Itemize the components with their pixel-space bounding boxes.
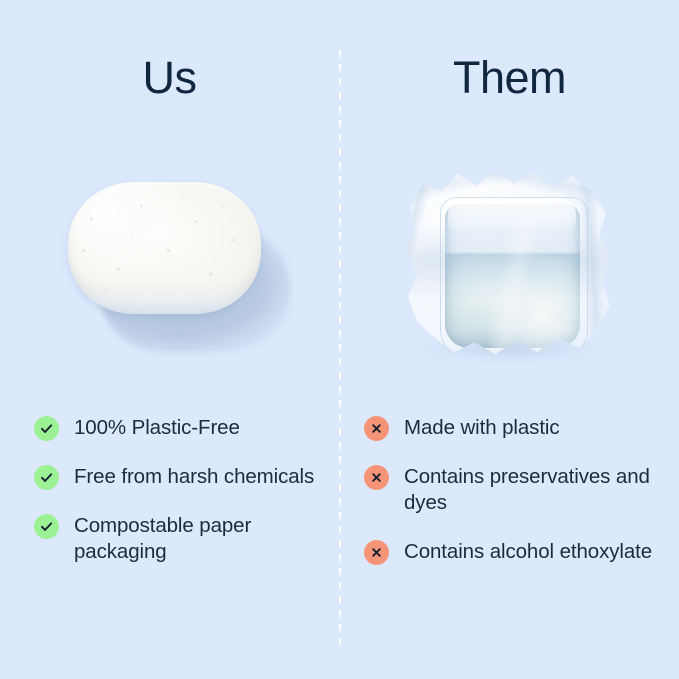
claim-list-them: Made with plastic Contains preservatives… (364, 415, 674, 565)
check-icon (34, 465, 59, 490)
comparison-column-them: Them (340, 0, 679, 679)
tablet-illustration (68, 182, 288, 357)
claim-list-us: 100% Plastic-Free Free from harsh chemic… (34, 415, 334, 565)
cross-icon (364, 465, 389, 490)
pod-inner-seam (440, 197, 588, 356)
list-item: Compostable paper packaging (34, 513, 334, 565)
tablet-bottom-rim (70, 280, 259, 314)
pod-plastic-film (404, 164, 612, 360)
claim-text: Compostable paper packaging (74, 513, 329, 565)
list-item: Made with plastic (364, 415, 674, 441)
product-image-them (340, 140, 679, 395)
list-item: Free from harsh chemicals (34, 464, 334, 490)
check-icon (34, 416, 59, 441)
list-item: 100% Plastic-Free (34, 415, 334, 441)
claim-text: Contains alcohol ethoxylate (404, 539, 652, 565)
tablet-body (68, 182, 261, 314)
list-item: Contains preservatives and dyes (364, 464, 674, 516)
check-icon (34, 514, 59, 539)
cross-icon (364, 416, 389, 441)
pod-illustration (396, 150, 621, 378)
cross-icon (364, 540, 389, 565)
claim-text: Contains preservatives and dyes (404, 464, 666, 516)
comparison-board: Us 100% Plastic-Free (0, 0, 679, 679)
column-title-them: Them (340, 50, 679, 106)
claim-text: 100% Plastic-Free (74, 415, 240, 441)
comparison-column-us: Us 100% Plastic-Free (0, 0, 339, 679)
claim-text: Made with plastic (404, 415, 560, 441)
list-item: Contains alcohol ethoxylate (364, 539, 674, 565)
column-title-us: Us (0, 50, 339, 106)
product-image-us (0, 140, 339, 395)
claim-text: Free from harsh chemicals (74, 464, 314, 490)
